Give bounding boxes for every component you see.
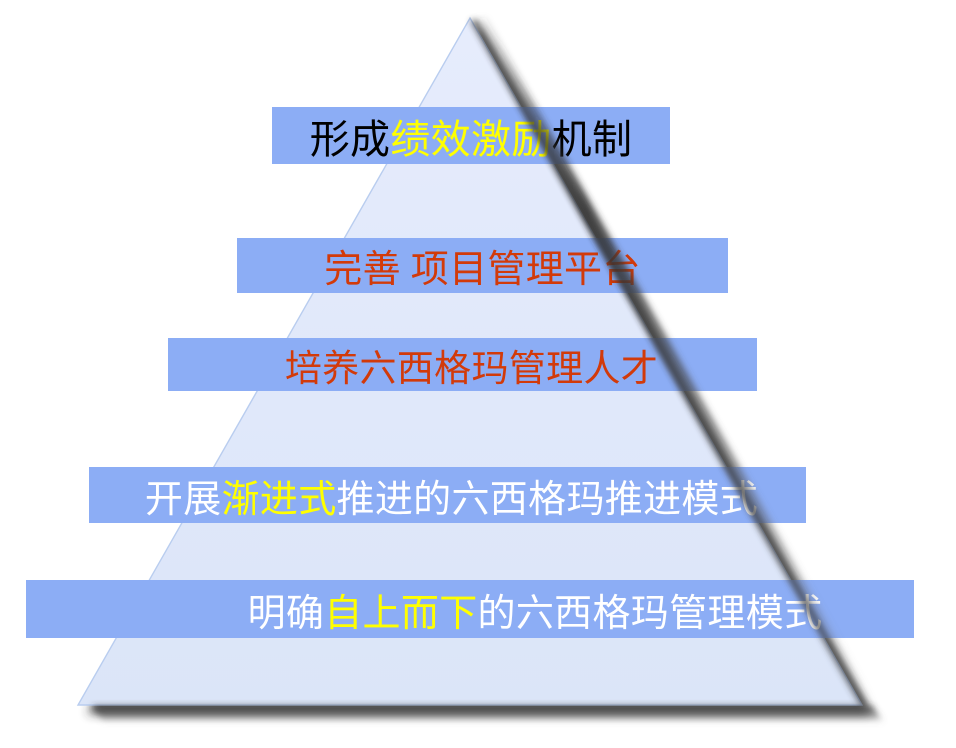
pyramid-level-3-bar[interactable]: 培养六西格玛管理人才	[168, 338, 757, 391]
level-1-segment-2: 绩效激励	[390, 117, 551, 162]
level-5-segment-1: 明确	[248, 593, 325, 635]
level-4-segment-2: 渐进式	[222, 479, 337, 521]
pyramid-level-1-text: 形成绩效激励机制	[272, 107, 670, 165]
level-4-segment-3: 推进的六西格玛推进模式	[337, 479, 759, 521]
level-5-segment-2: 自上而下	[324, 593, 477, 635]
pyramid-level-5-text: 明确自上而下的六西格玛管理模式	[26, 582, 914, 637]
level-4-segment-1: 开展	[145, 479, 222, 521]
level-1-segment-3: 机制	[552, 117, 633, 162]
pyramid-level-3-text: 培养六西格玛管理人才	[168, 338, 757, 392]
level-5-segment-3: 的六西格玛管理模式	[478, 593, 823, 635]
level-3-segment-1: 培养六西格玛管理人才	[285, 349, 658, 390]
pyramid-level-4-text: 开展渐进式推进的六西格玛推进模式	[89, 468, 806, 523]
pyramid-diagram-canvas: 形成绩效激励机制 完善 项目管理平台 培养六西格玛管理人才 开展渐进式推进的六西…	[0, 0, 956, 748]
pyramid-level-1-bar[interactable]: 形成绩效激励机制	[272, 107, 670, 164]
pyramid-level-5-bar[interactable]: 明确自上而下的六西格玛管理模式	[26, 580, 914, 638]
pyramid-level-2-text: 完善 项目管理平台	[237, 238, 728, 293]
pyramid-level-4-bar[interactable]: 开展渐进式推进的六西格玛推进模式	[89, 467, 806, 523]
pyramid-level-2-bar[interactable]: 完善 项目管理平台	[237, 238, 728, 293]
level-2-segment-1: 完善 项目管理平台	[324, 249, 640, 291]
level-1-segment-1: 形成	[310, 117, 391, 162]
